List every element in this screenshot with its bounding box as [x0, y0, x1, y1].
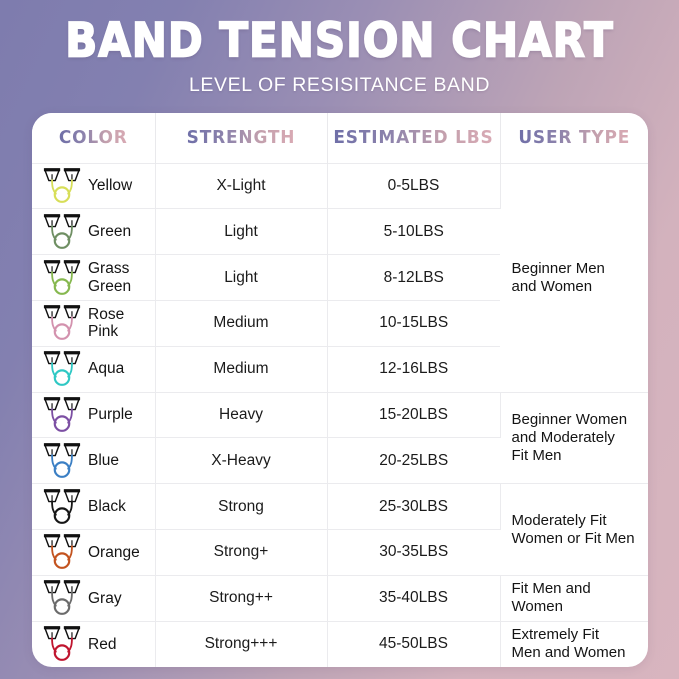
cell-color: Purple	[32, 392, 155, 438]
cell-color: Black	[32, 484, 155, 530]
cell-strength: Light	[155, 255, 327, 301]
resistance-band-icon	[42, 350, 82, 388]
cell-user-type: Beginner Womenand ModeratelyFit Men	[500, 392, 648, 484]
cell-estimated-lbs: 15-20LBS	[327, 392, 500, 438]
table-header-row: COLOR STRENGTH ESTIMATED LBS USER TYPE	[32, 113, 648, 163]
cell-color: Yellow	[32, 163, 155, 209]
cell-user-type: Fit Men and Women	[500, 575, 648, 621]
resistance-band-icon	[42, 533, 82, 571]
color-cell-content: Green	[42, 213, 149, 251]
color-name-label: Yellow	[88, 177, 132, 194]
cell-estimated-lbs: 35-40LBS	[327, 575, 500, 621]
color-name-label: Blue	[88, 452, 119, 469]
column-header-color-label: COLOR	[59, 127, 128, 148]
table-row: YellowX-Light0-5LBSBeginner Menand Women	[32, 163, 648, 209]
column-header-user-type: USER TYPE	[500, 113, 648, 163]
cell-strength: X-Light	[155, 163, 327, 209]
cell-color: GrassGreen	[32, 255, 155, 301]
color-cell-content: Black	[42, 488, 149, 526]
color-cell-content: Gray	[42, 579, 149, 617]
color-name-label: RosePink	[88, 306, 124, 341]
page-header: BAND TENSION CHART LEVEL OF RESISITANCE …	[0, 0, 679, 97]
cell-estimated-lbs: 0-5LBS	[327, 163, 500, 209]
color-name-label: Green	[88, 223, 131, 240]
color-cell-content: RosePink	[42, 304, 149, 342]
table-body: YellowX-Light0-5LBSBeginner Menand Women…	[32, 163, 648, 667]
column-header-estimated-lbs-label: ESTIMATED LBS	[333, 127, 493, 148]
color-cell-content: Blue	[42, 442, 149, 480]
resistance-band-icon	[42, 625, 82, 663]
page-subtitle: LEVEL OF RESISITANCE BAND	[0, 74, 679, 97]
color-cell-content: Aqua	[42, 350, 149, 388]
cell-estimated-lbs: 5-10LBS	[327, 209, 500, 255]
cell-strength: Light	[155, 209, 327, 255]
color-name-label: Purple	[88, 406, 133, 423]
color-name-label: Red	[88, 636, 116, 653]
cell-strength: Strong++	[155, 575, 327, 621]
color-cell-content: GrassGreen	[42, 259, 149, 297]
color-cell-content: Purple	[42, 396, 149, 434]
cell-estimated-lbs: 45-50LBS	[327, 621, 500, 667]
color-name-label: GrassGreen	[88, 260, 131, 295]
cell-user-type: Moderately FitWomen or Fit Men	[500, 484, 648, 576]
cell-estimated-lbs: 25-30LBS	[327, 484, 500, 530]
table-row: RedStrong+++45-50LBSExtremely FitMen and…	[32, 621, 648, 667]
resistance-band-icon	[42, 396, 82, 434]
column-header-color: COLOR	[32, 113, 155, 163]
cell-strength: Heavy	[155, 392, 327, 438]
cell-estimated-lbs: 12-16LBS	[327, 346, 500, 392]
cell-color: Gray	[32, 575, 155, 621]
resistance-band-icon	[42, 579, 82, 617]
table-row: PurpleHeavy15-20LBSBeginner Womenand Mod…	[32, 392, 648, 438]
color-cell-content: Yellow	[42, 167, 149, 205]
table-row: BlackStrong25-30LBSModerately FitWomen o…	[32, 484, 648, 530]
cell-strength: Strong+++	[155, 621, 327, 667]
cell-strength: Strong+	[155, 530, 327, 576]
cell-color: Blue	[32, 438, 155, 484]
cell-estimated-lbs: 30-35LBS	[327, 530, 500, 576]
column-header-user-type-label: USER TYPE	[518, 127, 630, 148]
page-title: BAND TENSION CHART	[0, 16, 679, 65]
cell-color: Green	[32, 209, 155, 255]
resistance-band-icon	[42, 213, 82, 251]
resistance-band-icon	[42, 488, 82, 526]
table-row: GrayStrong++35-40LBSFit Men and Women	[32, 575, 648, 621]
cell-color: RosePink	[32, 300, 155, 346]
cell-estimated-lbs: 8-12LBS	[327, 255, 500, 301]
cell-color: Orange	[32, 530, 155, 576]
color-name-label: Black	[88, 498, 126, 515]
color-cell-content: Red	[42, 625, 149, 663]
column-header-strength-label: STRENGTH	[187, 127, 296, 148]
color-cell-content: Orange	[42, 533, 149, 571]
cell-estimated-lbs: 20-25LBS	[327, 438, 500, 484]
color-name-label: Aqua	[88, 360, 124, 377]
resistance-band-icon	[42, 167, 82, 205]
cell-user-type: Beginner Menand Women	[500, 163, 648, 392]
resistance-band-icon	[42, 442, 82, 480]
chart-card: COLOR STRENGTH ESTIMATED LBS USER TYPE Y…	[32, 113, 648, 667]
resistance-band-icon	[42, 259, 82, 297]
cell-strength: X-Heavy	[155, 438, 327, 484]
cell-color: Aqua	[32, 346, 155, 392]
cell-strength: Medium	[155, 346, 327, 392]
cell-estimated-lbs: 10-15LBS	[327, 300, 500, 346]
column-header-strength: STRENGTH	[155, 113, 327, 163]
table-head: COLOR STRENGTH ESTIMATED LBS USER TYPE	[32, 113, 648, 163]
column-header-estimated-lbs: ESTIMATED LBS	[327, 113, 500, 163]
cell-strength: Medium	[155, 300, 327, 346]
cell-user-type: Extremely FitMen and Women	[500, 621, 648, 667]
band-tension-table: COLOR STRENGTH ESTIMATED LBS USER TYPE Y…	[32, 113, 648, 667]
cell-strength: Strong	[155, 484, 327, 530]
color-name-label: Gray	[88, 590, 122, 607]
cell-color: Red	[32, 621, 155, 667]
color-name-label: Orange	[88, 544, 140, 561]
resistance-band-icon	[42, 304, 82, 342]
